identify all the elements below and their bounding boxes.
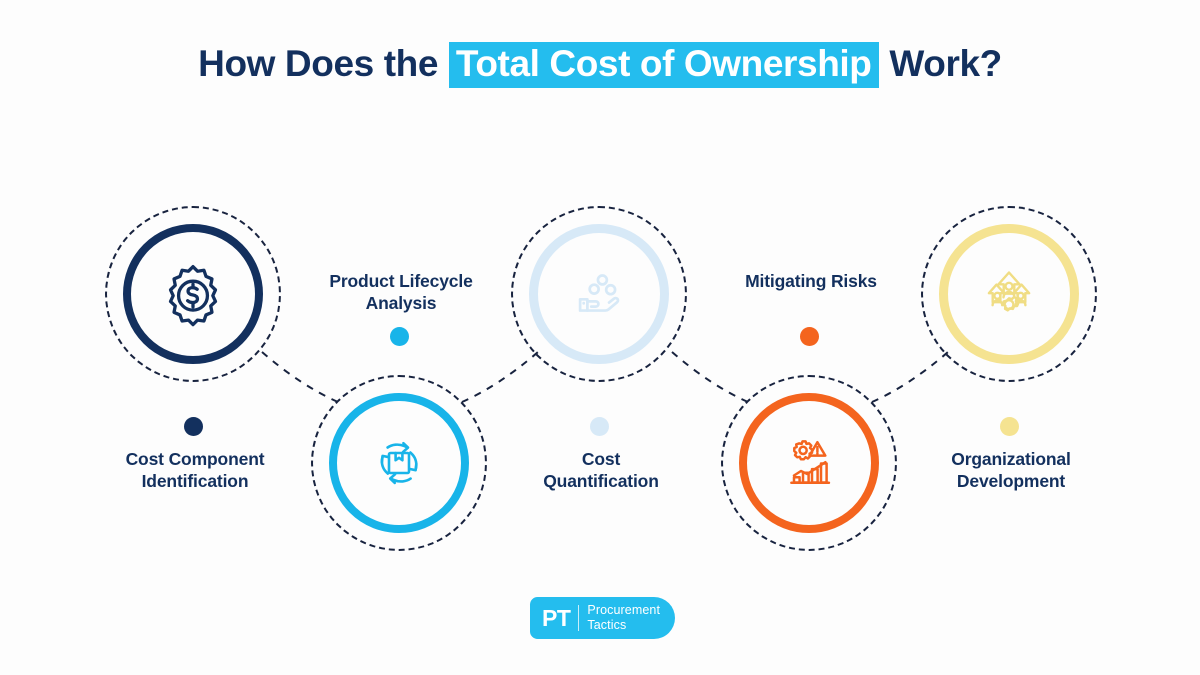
flow-node-mitigating-risks[interactable] [721, 375, 897, 551]
step-label-line1: Mitigating Risks [681, 270, 941, 292]
flow-node-cost-component-identification[interactable] [105, 206, 281, 382]
step-label-line1: Product Lifecycle [271, 270, 531, 292]
team-growth-gear-icon [921, 206, 1097, 382]
logo-divider [578, 605, 579, 631]
step-label-line1: Cost Component [65, 448, 325, 470]
step-label-line1: Organizational [881, 448, 1141, 470]
gear-warning-bar-chart-icon [721, 375, 897, 551]
step-dot-organizational-development [1000, 417, 1019, 436]
step-label-line2: Development [881, 470, 1141, 492]
logo-wordmark-line2: Tactics [587, 618, 660, 633]
step-label-line2: Identification [65, 470, 325, 492]
logo-mark: PT [530, 605, 570, 632]
flow-node-cost-quantification[interactable] [511, 206, 687, 382]
gear-dollar-coin-icon [105, 206, 281, 382]
logo-wordmark: Procurement Tactics [587, 603, 660, 634]
step-label-line1: Cost [471, 448, 731, 470]
package-recycle-arrows-icon [311, 375, 487, 551]
step-label-organizational-development: Organizational Development [881, 448, 1141, 493]
process-flow-diagram: Cost Component Identification Product Li… [0, 0, 1200, 675]
step-dot-product-lifecycle-analysis [390, 327, 409, 346]
step-label-mitigating-risks: Mitigating Risks [681, 270, 941, 292]
step-label-line2: Quantification [471, 470, 731, 492]
hand-holding-coins-icon [511, 206, 687, 382]
flow-node-organizational-development[interactable] [921, 206, 1097, 382]
logo-procurement-tactics[interactable]: PT Procurement Tactics [530, 597, 675, 639]
step-label-cost-component-identification: Cost Component Identification [65, 448, 325, 493]
step-dot-cost-quantification [590, 417, 609, 436]
step-dot-cost-component-identification [184, 417, 203, 436]
step-label-line2: Analysis [271, 292, 531, 314]
step-dot-mitigating-risks [800, 327, 819, 346]
logo-wordmark-line1: Procurement [587, 603, 660, 618]
step-label-cost-quantification: Cost Quantification [471, 448, 731, 493]
flow-node-product-lifecycle-analysis[interactable] [311, 375, 487, 551]
step-label-product-lifecycle-analysis: Product Lifecycle Analysis [271, 270, 531, 315]
